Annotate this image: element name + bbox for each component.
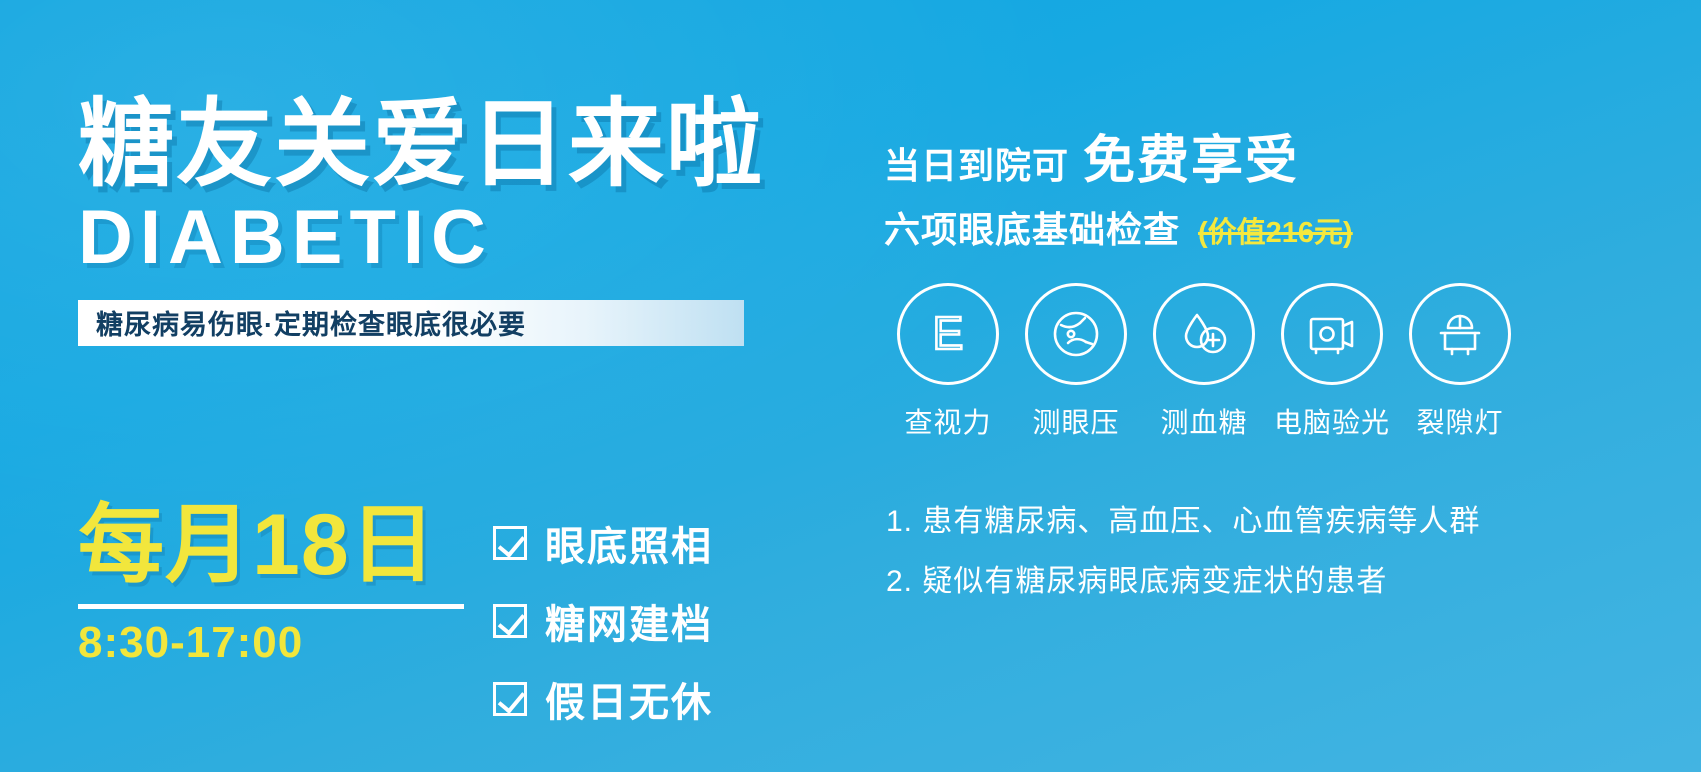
checklist-label: 假日无休 xyxy=(545,670,713,728)
checklist: 眼底照相 糖网建档 假日无休 xyxy=(493,514,713,748)
note-item: 1. 患有糖尿病、高血压、心血管疾病等人群 xyxy=(886,496,1480,540)
service-item-vision: E 查视力 xyxy=(884,283,1012,441)
list-item: 糖网建档 xyxy=(493,592,713,650)
service-label: 查视力 xyxy=(884,401,1012,441)
headline-english: DIABETIC xyxy=(78,200,878,276)
date-block: 每月18日 8:30-17:00 xyxy=(78,502,478,665)
list-item: 眼底照相 xyxy=(493,514,713,572)
note-item: 2. 疑似有糖尿病眼底病变症状的患者 xyxy=(886,556,1480,600)
promo-line-2: 六项眼底基础检查 (价值216元) xyxy=(884,201,1664,253)
autorefractor-machine-icon xyxy=(1281,283,1383,385)
list-item: 假日无休 xyxy=(493,670,713,728)
promo-offer: 六项眼底基础检查 xyxy=(884,201,1180,253)
checklist-label: 眼底照相 xyxy=(545,514,713,572)
subtitle-bar: 糖尿病易伤眼·定期检查眼底很必要 xyxy=(78,300,744,346)
slit-lamp-icon xyxy=(1409,283,1511,385)
svg-text:E: E xyxy=(933,307,964,359)
event-hours: 8:30-17:00 xyxy=(78,621,478,665)
original-price: (价值216元) xyxy=(1198,209,1353,251)
promo-prefix: 当日到院可 xyxy=(884,137,1069,189)
event-date: 每月18日 xyxy=(78,502,478,588)
checkbox-checked-icon xyxy=(493,682,527,716)
promo-highlight: 免费享受 xyxy=(1083,118,1299,193)
service-icon-row: E 查视力 测眼压 xyxy=(884,283,1524,441)
promo-line-1: 当日到院可 免费享受 xyxy=(884,118,1664,193)
service-item-glucose: 测血糖 xyxy=(1140,283,1268,441)
service-item-tonometry: 测眼压 xyxy=(1012,283,1140,441)
eye-chart-e-icon: E xyxy=(897,283,999,385)
service-label: 裂隙灯 xyxy=(1396,401,1524,441)
right-panel: 当日到院可 免费享受 六项眼底基础检查 (价值216元) E 查视力 xyxy=(884,118,1664,253)
checklist-label: 糖网建档 xyxy=(545,592,713,650)
service-label: 测血糖 xyxy=(1140,401,1268,441)
eligibility-notes: 1. 患有糖尿病、高血压、心血管疾病等人群 2. 疑似有糖尿病眼底病变症状的患者 xyxy=(886,496,1480,616)
eyeball-tonometer-icon xyxy=(1025,283,1127,385)
checkbox-checked-icon xyxy=(493,604,527,638)
page-title: 糖友关爱日来啦 xyxy=(78,96,878,194)
service-label: 电脑验光 xyxy=(1268,401,1396,441)
blood-drop-glucose-icon xyxy=(1153,283,1255,385)
checkbox-checked-icon xyxy=(493,526,527,560)
service-item-slit-lamp: 裂隙灯 xyxy=(1396,283,1524,441)
promo-banner: 糖友关爱日来啦 DIABETIC 糖尿病易伤眼·定期检查眼底很必要 每月18日 … xyxy=(0,0,1701,772)
divider xyxy=(78,604,464,609)
service-label: 测眼压 xyxy=(1012,401,1140,441)
subtitle-text: 糖尿病易伤眼·定期检查眼底很必要 xyxy=(96,303,526,342)
left-panel: 糖友关爱日来啦 DIABETIC 糖尿病易伤眼·定期检查眼底很必要 xyxy=(78,96,878,346)
service-item-autorefraction: 电脑验光 xyxy=(1268,283,1396,441)
